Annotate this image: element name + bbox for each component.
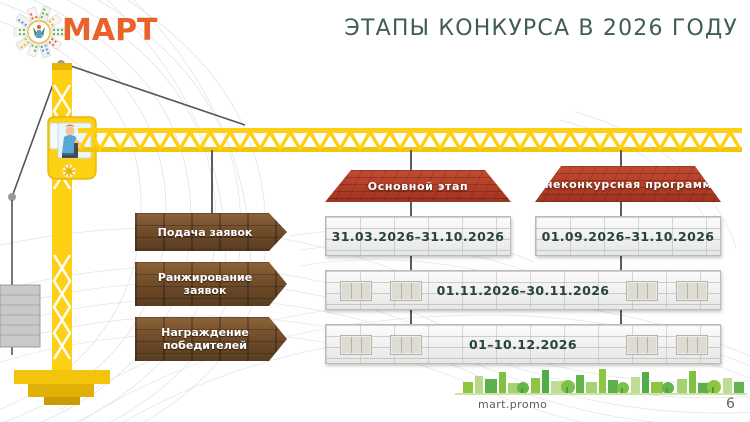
connector-col2-row3 [620, 310, 622, 324]
window-r2-4 [676, 281, 708, 301]
connector-col1-row2 [410, 256, 412, 270]
slide-canvas: МАРТ ЭТАПЫ КОНКУРСА В 2026 ГОДУ [0, 0, 750, 422]
footer-url[interactable]: mart.promo [478, 398, 547, 411]
row-3-value: 01–10.12.2026 [469, 337, 577, 352]
window-r2-1 [340, 281, 372, 301]
stage-sign-3[interactable]: Награждение победителей [135, 317, 287, 361]
stage-sign-1[interactable]: Подача заявок [135, 213, 287, 251]
stage-sign-3-label: Награждение победителей [145, 326, 265, 352]
stage-sign-1-label: Подача заявок [158, 226, 253, 239]
window-r3-4 [676, 335, 708, 355]
stage-sign-2-label: Ранжирование заявок [145, 271, 265, 297]
row-2-cell-span[interactable]: 01.11.2026–30.11.2026 [325, 270, 721, 310]
window-r2-3 [626, 281, 658, 301]
row-1-right-value: 01.09.2026–31.10.2026 [542, 229, 715, 244]
connector-col1-row3 [410, 310, 412, 324]
column-header-1-label: Основной этап [368, 180, 468, 193]
green-city-skyline-decoration [455, 366, 747, 396]
column-header-roof-2[interactable]: Внеконкурсная программа [535, 166, 721, 202]
window-r3-3 [626, 335, 658, 355]
column-header-2-label: Внеконкурсная программа [536, 178, 720, 191]
connector-col1-row1 [410, 202, 412, 216]
stage-sign-2[interactable]: Ранжирование заявок [135, 262, 287, 306]
column-header-roof-1[interactable]: Основной этап [325, 170, 511, 202]
row-1-cell-left[interactable]: 31.03.2026–31.10.2026 [325, 216, 511, 256]
page-number: 6 [726, 396, 735, 412]
brand-logo[interactable]: МАРТ [8, 2, 158, 60]
crane-cable-column-1 [410, 150, 412, 172]
crane-jib-truss [78, 128, 742, 152]
row-1-cell-right[interactable]: 01.09.2026–31.10.2026 [535, 216, 721, 256]
window-r3-2 [390, 335, 422, 355]
page-title: ЭТАПЫ КОНКУРСА В 2026 ГОДУ [344, 16, 738, 41]
logo-wordmark: МАРТ [62, 14, 158, 48]
row-1-left-value: 31.03.2026–31.10.2026 [332, 229, 505, 244]
crane-cable-left [211, 150, 213, 218]
window-r2-2 [390, 281, 422, 301]
window-r3-1 [340, 335, 372, 355]
connector-col2-row2 [620, 256, 622, 270]
row-2-value: 01.11.2026–30.11.2026 [437, 283, 610, 298]
row-3-cell-span[interactable]: 01–10.12.2026 [325, 324, 721, 364]
connector-col2-row1 [620, 202, 622, 216]
mart-circular-emblem-icon [12, 6, 66, 58]
